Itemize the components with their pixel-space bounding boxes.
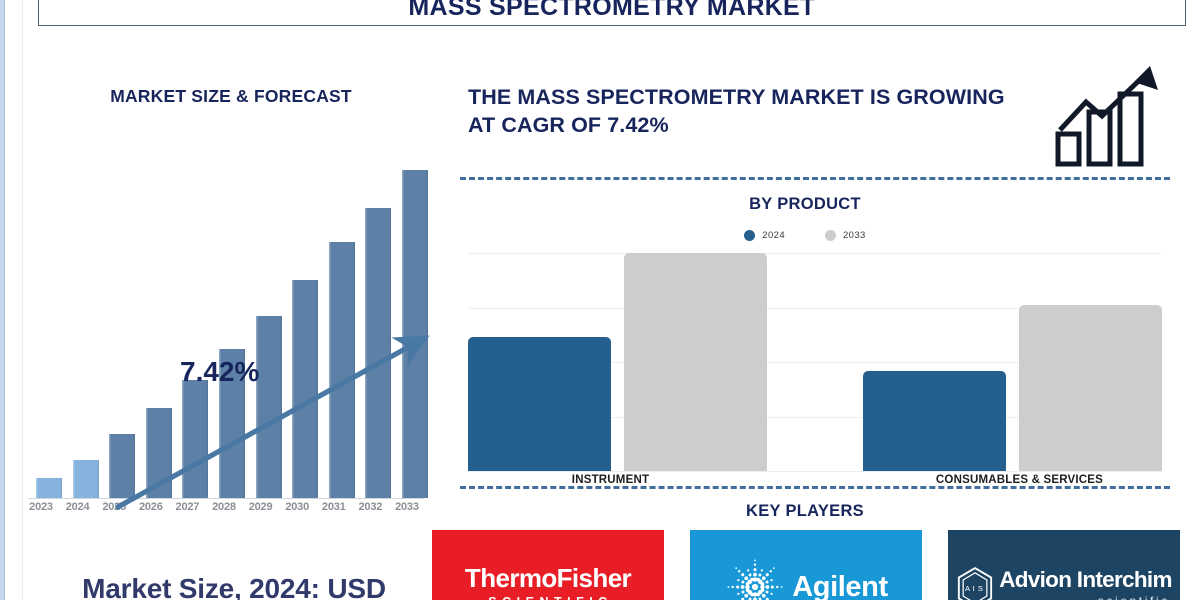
market-size-panel: MARKET SIZE & FORECAST 7.42% 20232024202…	[24, 50, 438, 600]
bar-2023	[36, 478, 62, 498]
by-product-heading: BY PRODUCT	[450, 195, 1160, 214]
bar-column	[402, 170, 428, 498]
category-label-1: CONSUMABLES & SERVICES	[817, 474, 1162, 486]
logo-agilent-name: Agilent	[792, 573, 887, 600]
bar-column	[182, 170, 208, 498]
year-label-2027: 2027	[170, 501, 204, 513]
bar-column	[365, 170, 391, 498]
year-label-2029: 2029	[244, 501, 278, 513]
bar-group-1	[815, 253, 1162, 471]
divider-top	[460, 177, 1170, 180]
bar-column	[219, 170, 245, 498]
bar-series-market-size	[32, 170, 432, 498]
svg-text:I: I	[973, 584, 975, 593]
bar-instrument-2033	[624, 253, 767, 471]
bar-2031	[329, 242, 355, 498]
year-label-2033: 2033	[390, 501, 424, 513]
logo-agilent[interactable]: Agilent	[690, 530, 922, 600]
legend-item-2033[interactable]: 2033	[825, 230, 866, 241]
key-players-logos: ThermoFisher SCIENTIFIC Agilent	[432, 530, 1180, 600]
legend-item-2024[interactable]: 2024	[744, 230, 785, 241]
year-label-2028: 2028	[207, 501, 241, 513]
divider-bottom	[460, 486, 1170, 489]
cagr-badge: 7.42%	[180, 356, 259, 388]
year-label-2030: 2030	[280, 501, 314, 513]
bar-group-0	[468, 253, 815, 471]
infographic-root: MASS SPECTROMETRY MARKET MARKET SIZE & F…	[0, 0, 1200, 600]
bar-column	[256, 170, 282, 498]
bar-column	[73, 170, 99, 498]
gridline	[468, 471, 1162, 472]
svg-text:A: A	[965, 584, 971, 593]
category-label-0: INSTRUMENT	[468, 474, 817, 486]
bar-2024	[73, 460, 99, 498]
key-players-heading: KEY PLAYERS	[450, 502, 1160, 521]
bar-column	[292, 170, 318, 498]
bar-2032	[365, 208, 391, 498]
page-title: MASS SPECTROMETRY MARKET	[408, 0, 815, 25]
by-product-category-labels: INSTRUMENTCONSUMABLES & SERVICES	[468, 474, 1162, 486]
year-label-2023: 2023	[24, 501, 58, 513]
chart-legend: 20242033	[450, 230, 1160, 241]
page-title-box: MASS SPECTROMETRY MARKET	[38, 0, 1186, 26]
bar-series-by-product	[468, 253, 1162, 471]
bar-2033	[402, 170, 428, 498]
legend-label: 2033	[843, 230, 866, 241]
by-product-chart	[468, 253, 1162, 471]
market-size-value: Market Size, 2024: USD 6710 Million	[24, 572, 444, 600]
logo-advion-name: Advion Interchim	[999, 569, 1172, 592]
svg-text:S: S	[978, 584, 983, 593]
legend-label: 2024	[762, 230, 785, 241]
legend-swatch-icon	[744, 230, 755, 241]
logo-advion-tagline: scientific	[999, 595, 1172, 600]
bar-column	[109, 170, 135, 498]
chart-year-labels: 2023202420252026202720282029203020312032…	[24, 501, 424, 513]
bar-chart-growth-icon	[1050, 60, 1168, 170]
cagr-statement: THE MASS SPECTROMETRY MARKET IS GROWING …	[468, 83, 1013, 140]
year-label-2026: 2026	[134, 501, 168, 513]
logo-thermofisher[interactable]: ThermoFisher SCIENTIFIC	[432, 530, 664, 600]
logo-thermofisher-tagline: SCIENTIFIC	[465, 595, 631, 600]
year-label-2031: 2031	[317, 501, 351, 513]
logo-thermofisher-name: ThermoFisher	[465, 565, 631, 591]
year-label-2024: 2024	[61, 501, 95, 513]
chart-baseline	[28, 498, 424, 499]
bar-consumables-services-2033	[1019, 305, 1162, 471]
legend-swatch-icon	[825, 230, 836, 241]
market-size-forecast-chart: 7.42% 2023202420252026202720282029203020…	[24, 170, 438, 525]
bar-column	[36, 170, 62, 498]
page-edge-left	[0, 0, 5, 600]
bar-2030	[292, 280, 318, 498]
agilent-starburst-icon	[724, 556, 786, 600]
advion-ais-hexagon-icon: A I S	[956, 566, 994, 600]
market-size-line-1: Market Size, 2024: USD	[24, 572, 444, 600]
bar-column	[329, 170, 355, 498]
bar-2029	[256, 316, 282, 498]
market-size-heading: MARKET SIZE & FORECAST	[24, 86, 438, 107]
year-label-2032: 2032	[353, 501, 387, 513]
bar-2027	[182, 380, 208, 498]
year-label-2025: 2025	[97, 501, 131, 513]
bar-2026	[146, 408, 172, 498]
market-details-panel: THE MASS SPECTROMETRY MARKET IS GROWING …	[450, 50, 1180, 600]
bar-instrument-2024	[468, 337, 611, 471]
bar-column	[146, 170, 172, 498]
logo-advion-interchim[interactable]: A I S Advion Interchim scientific	[948, 530, 1180, 600]
chart-plot-area: 7.42%	[32, 170, 432, 498]
bar-consumables-services-2024	[863, 371, 1006, 471]
page-edge-left-inner	[22, 0, 23, 600]
bar-2025	[109, 434, 135, 498]
